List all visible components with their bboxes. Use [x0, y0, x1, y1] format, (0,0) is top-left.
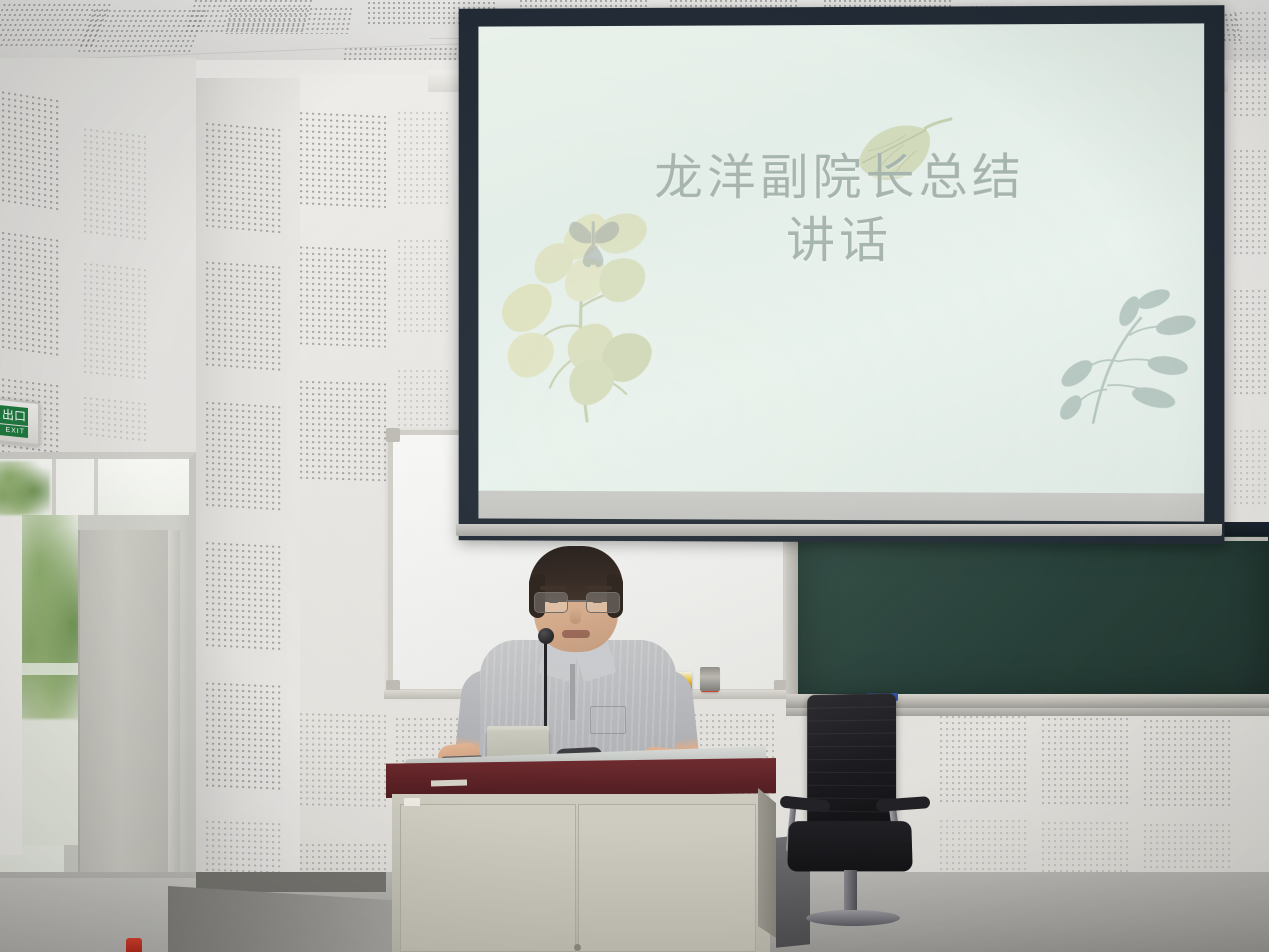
acoustic-panel — [84, 397, 146, 444]
lectern-cabinet-door-right[interactable] — [578, 804, 756, 952]
slide-lower-band — [478, 491, 1204, 522]
acoustic-panel — [300, 713, 386, 811]
presenter-placket — [570, 664, 575, 720]
lectern-label — [404, 798, 420, 806]
acoustic-panel — [84, 128, 146, 242]
acoustic-panel — [940, 820, 1028, 876]
lectern-side-panel — [758, 788, 776, 938]
acoustic-panel — [206, 682, 282, 791]
acoustic-panel — [1234, 290, 1269, 398]
slide: 龙洋副院长总结 讲话 — [478, 23, 1204, 495]
chalkboard — [798, 536, 1269, 696]
acoustic-panel — [84, 263, 146, 380]
glasses-lens-left — [534, 592, 568, 613]
olive-sprig-icon — [1057, 273, 1204, 434]
acoustic-panel — [1234, 12, 1269, 118]
acoustic-panel — [398, 370, 450, 426]
exit-sign-en-text: EXIT — [5, 427, 25, 436]
chair-gas-cylinder — [844, 870, 857, 914]
lectern — [386, 758, 776, 952]
acoustic-panel — [2, 91, 62, 211]
acoustic-panel — [940, 716, 1028, 804]
exit-sign-cn-band: 出口 — [0, 403, 28, 426]
acoustic-panel — [1234, 150, 1269, 258]
microphone-icon — [538, 628, 554, 644]
exit-sign: 出口 EXIT — [0, 398, 40, 447]
acoustic-panel — [1042, 718, 1130, 806]
acoustic-panel — [300, 381, 386, 482]
slide-title-line1: 龙洋副院长总结 — [654, 149, 1025, 207]
chair-base — [806, 910, 900, 926]
ceiling-tile — [226, 8, 353, 34]
fire-extinguisher — [126, 938, 142, 952]
classroom-photo: 出口 EXIT — [0, 0, 1269, 952]
acoustic-panel — [300, 112, 386, 212]
presenter-mouth — [562, 630, 590, 638]
acoustic-panel — [1144, 720, 1232, 808]
presenter-brow-left — [540, 586, 566, 590]
acoustic-panel — [300, 246, 386, 347]
chair-armrest-right — [876, 796, 931, 812]
chalkboard-post — [786, 536, 798, 700]
slide-title-line2: 讲话 — [478, 209, 1204, 272]
lectern-trim-strip — [431, 780, 467, 787]
presenter-pocket — [590, 706, 626, 734]
chair-backrest-stitching — [807, 693, 896, 835]
acoustic-panel — [206, 261, 282, 372]
acoustic-panel — [398, 112, 450, 204]
glasses-lens-right — [586, 592, 620, 613]
acoustic-panel — [2, 232, 62, 356]
acoustic-panel — [206, 402, 282, 513]
glasses-bridge — [566, 600, 586, 602]
presenter-nose — [570, 608, 581, 624]
acoustic-panel — [206, 542, 282, 652]
lectern-cabinet-door-left[interactable] — [400, 804, 576, 952]
presenter-brow-right — [586, 586, 612, 590]
chair-seat — [787, 821, 913, 871]
acoustic-panel — [1234, 430, 1269, 508]
projection-screen-frame: 龙洋副院长总结 讲话 — [459, 5, 1225, 544]
acoustic-panel — [398, 240, 450, 334]
lectern-lock[interactable] — [574, 944, 581, 951]
exit-sign-cn-text: 出口 — [2, 408, 26, 423]
whiteboard-corner — [386, 428, 400, 442]
lectern-top-edge — [386, 758, 776, 798]
office-chair[interactable] — [776, 694, 936, 952]
acoustic-panel — [206, 123, 282, 234]
screen-bottom-bar — [456, 524, 1222, 536]
acoustic-panel — [1042, 822, 1130, 878]
slide-title: 龙洋副院长总结 讲话 — [478, 146, 1204, 272]
wall-base — [196, 872, 386, 892]
